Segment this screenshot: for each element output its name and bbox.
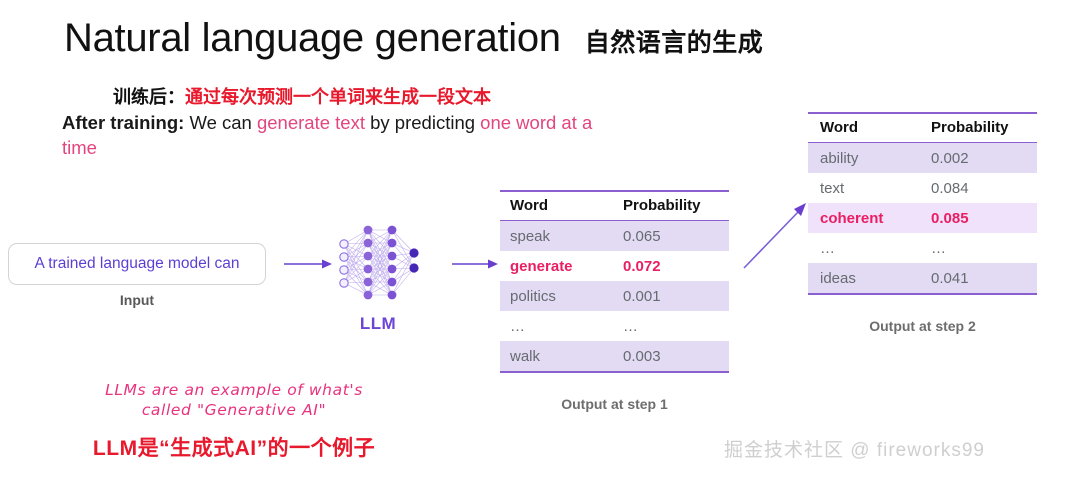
table-header-row: Word Probability [500, 192, 729, 221]
table-row[interactable]: text 0.084 [808, 173, 1037, 203]
arrow-table1-to-table2 [742, 198, 812, 270]
subtitle-chinese-body: 通过每次预测一个单词来生成一段文本 [185, 87, 491, 107]
cell-word: ability [808, 150, 923, 167]
table-caption-step1: Output at step 1 [500, 396, 729, 412]
cell-probability: 0.003 [615, 348, 729, 365]
table-row[interactable]: ideas 0.041 [808, 263, 1037, 293]
cell-probability: 0.084 [923, 180, 1037, 197]
cell-word: ideas [808, 270, 923, 287]
probability-table-step1: Word Probability speak 0.065 generate 0.… [500, 190, 729, 373]
arrow-input-to-llm [284, 258, 332, 270]
input-box-text: A trained language model can [34, 255, 239, 273]
cell-probability: 0.065 [615, 228, 729, 245]
llm-diagram: LLM [330, 222, 430, 337]
column-header-probability: Probability [615, 197, 729, 214]
annotation-note-line2: called "Generative AI" [64, 400, 404, 420]
column-header-word: Word [808, 119, 923, 136]
probability-table-step2: Word Probability ability 0.002 text 0.08… [808, 112, 1037, 295]
cell-probability: 0.001 [615, 288, 729, 305]
table-row[interactable]: generate 0.072 [500, 251, 729, 281]
subtitle-english: After training: We can generate text by … [62, 110, 622, 160]
subtitle-chinese: 训练后：通过每次预测一个单词来生成一段文本 [113, 83, 491, 109]
cell-probability: 0.085 [923, 210, 1037, 227]
table-row-ellipsis: … … [808, 233, 1037, 263]
table-header-row: Word Probability [808, 114, 1037, 143]
table-row[interactable]: ability 0.002 [808, 143, 1037, 173]
cell-word: text [808, 180, 923, 197]
subtitle-chinese-label: 训练后： [113, 87, 185, 107]
cell-probability: 0.002 [923, 150, 1037, 167]
page-title-english: Natural language generation [64, 16, 561, 61]
page-title-chinese: 自然语言的生成 [585, 23, 764, 59]
table-row[interactable]: walk 0.003 [500, 341, 729, 371]
watermark-text: 掘金技术社区 @ fireworks99 [724, 435, 985, 462]
arrow-llm-to-table1 [452, 258, 498, 270]
llm-label: LLM [330, 314, 426, 334]
cell-probability: … [923, 240, 1037, 257]
cell-word: politics [500, 288, 615, 305]
cell-word: speak [500, 228, 615, 245]
cell-word: walk [500, 348, 615, 365]
table-row[interactable]: politics 0.001 [500, 281, 729, 311]
subtitle-english-part2: by predicting [365, 112, 480, 133]
annotation-note-english: LLMs are an example of what's called "Ge… [64, 380, 404, 420]
annotation-note-chinese: LLM是“生成式AI”的一个例子 [64, 432, 404, 462]
cell-word: … [808, 240, 923, 257]
table-row[interactable]: coherent 0.085 [808, 203, 1037, 233]
cell-probability: 0.072 [615, 258, 729, 275]
table-row-ellipsis: … … [500, 311, 729, 341]
neural-network-icon [330, 222, 426, 312]
page-title: Natural language generation 自然语言的生成 [64, 16, 763, 61]
cell-word: … [500, 318, 615, 335]
cell-probability: … [615, 318, 729, 335]
table-caption-step2: Output at step 2 [808, 318, 1037, 334]
subtitle-english-label: After training: [62, 112, 184, 133]
subtitle-english-highlight1: generate text [257, 112, 365, 133]
cell-word: coherent [808, 210, 923, 227]
annotation-note-line1: LLMs are an example of what's [64, 380, 404, 400]
input-caption-label: Input [8, 292, 266, 308]
cell-word: generate [500, 258, 615, 275]
input-box[interactable]: A trained language model can [8, 243, 266, 285]
cell-probability: 0.041 [923, 270, 1037, 287]
column-header-word: Word [500, 197, 615, 214]
table-row[interactable]: speak 0.065 [500, 221, 729, 251]
column-header-probability: Probability [923, 119, 1037, 136]
subtitle-english-part1: We can [184, 112, 257, 133]
